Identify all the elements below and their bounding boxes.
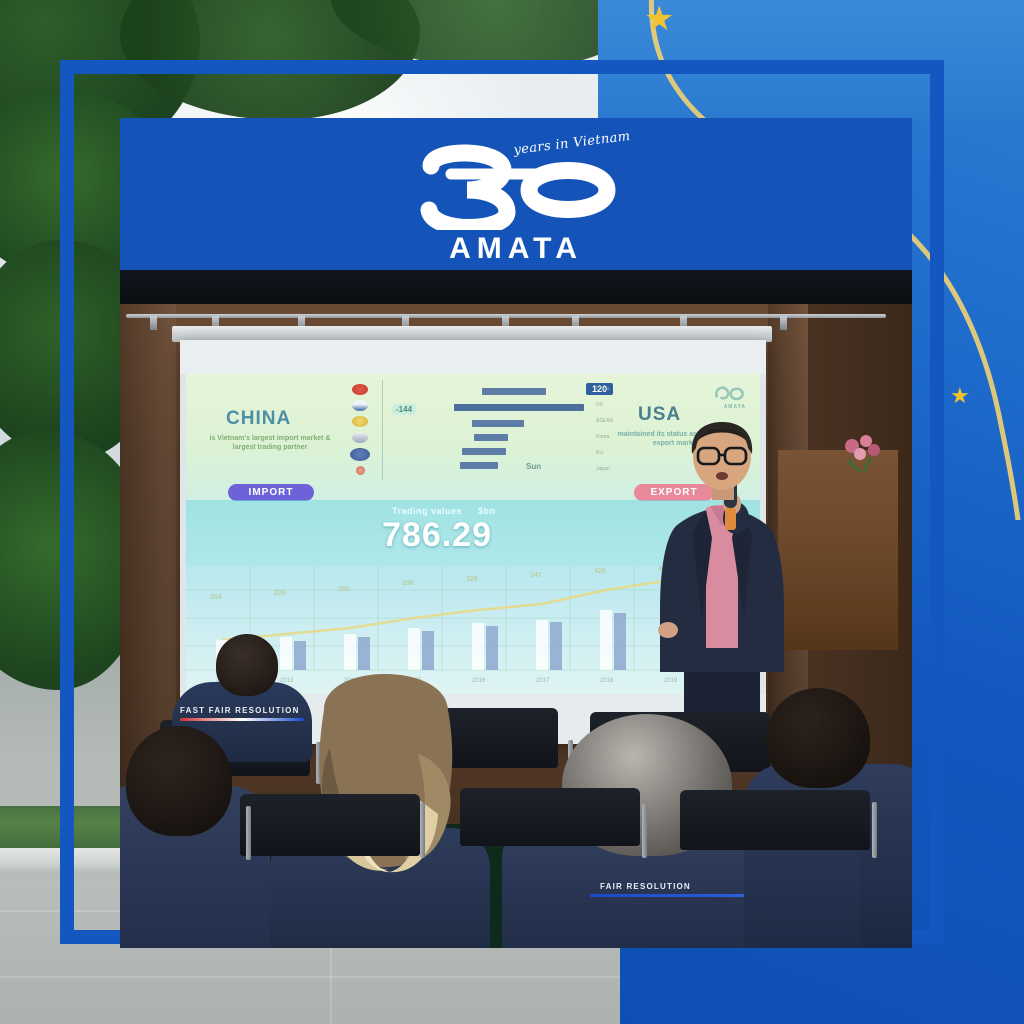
flower-arrangement	[840, 432, 886, 474]
jacket-text-back: FAIR RESOLUTION	[600, 882, 691, 891]
chart-value-label: 204	[210, 594, 222, 601]
bar-asean	[472, 420, 524, 427]
sun-label: Sun	[526, 462, 541, 471]
chair-leg	[642, 804, 647, 858]
chart-value-label: 428	[594, 568, 606, 575]
chart-bar	[536, 620, 548, 670]
slide-amata-logo-icon	[712, 380, 746, 406]
chart-value-label: 328	[466, 576, 478, 583]
import-button[interactable]: IMPORT	[228, 484, 314, 501]
flag-icon-eu	[350, 448, 370, 461]
deficit-value: -144	[392, 404, 416, 415]
chart-x-tick: 2017	[536, 678, 549, 684]
logo-company-name: AMATA	[411, 232, 621, 266]
curtain-hook	[780, 316, 787, 330]
legend-china: China	[596, 386, 609, 392]
star-icon: ★	[644, 2, 674, 36]
chart-bar	[600, 610, 612, 670]
flag-icon-china	[352, 384, 368, 395]
flag-icon-us	[352, 400, 368, 411]
legend-korea: Korea	[596, 434, 609, 440]
slide-china-description: is Vietnam's largest import market & lar…	[200, 434, 340, 452]
chart-value-label: 298	[402, 580, 414, 587]
trading-unit: $bn	[478, 506, 496, 516]
bar-japan	[460, 462, 498, 469]
trading-label: Trading values	[392, 506, 462, 516]
slide-margin-top	[180, 340, 766, 374]
slide-country-china: CHINA	[226, 408, 291, 430]
flag-icon-asean	[352, 416, 368, 427]
ceiling	[120, 270, 912, 304]
speaker-person	[632, 408, 812, 748]
jacket-stripe	[590, 894, 770, 897]
brand-header-band: years in Vietnam AMATA	[120, 118, 912, 270]
chart-value-label: 347	[530, 572, 542, 579]
amata-logo: years in Vietnam AMATA	[411, 144, 621, 266]
legend-japan: Japan	[596, 466, 610, 472]
chair-leg	[420, 802, 425, 858]
poster-canvas: ★ ★ ★ CHIN	[0, 0, 1024, 1024]
attendee-head	[216, 634, 278, 696]
anniversary-mark: years in Vietnam	[411, 144, 621, 230]
chart-value-label: 250	[338, 586, 350, 593]
audience: FAST FAIR RESOLUTION FAIR RESOLUTION	[120, 698, 912, 948]
chair	[240, 794, 420, 856]
chair-leg	[246, 806, 251, 860]
chart-bar	[614, 613, 626, 670]
conference-photo: CHINA is Vietnam's largest import market…	[120, 118, 912, 948]
trading-total-value: 786.29	[382, 516, 492, 555]
chart-bar	[550, 622, 562, 670]
bar-korea	[474, 434, 508, 441]
legend-asean: ASEAN	[596, 418, 613, 424]
curtain-hook	[150, 316, 157, 330]
attendee-head	[766, 688, 870, 788]
flag-icon-japan	[356, 466, 365, 475]
slide-divider	[382, 380, 383, 480]
chair-leg	[872, 802, 877, 858]
chair	[460, 788, 640, 846]
bar-eu	[462, 448, 506, 455]
chair	[680, 790, 870, 850]
chart-value-label: 229	[274, 590, 286, 597]
bar-china	[482, 388, 546, 395]
legend-us: US	[596, 402, 603, 408]
chart-x-tick: 2018	[600, 678, 613, 684]
attendee-head	[126, 726, 232, 836]
flag-icon-korea	[352, 432, 368, 443]
legend-eu: EU	[596, 450, 603, 456]
bar-us	[454, 404, 584, 411]
star-icon: ★	[950, 385, 970, 407]
